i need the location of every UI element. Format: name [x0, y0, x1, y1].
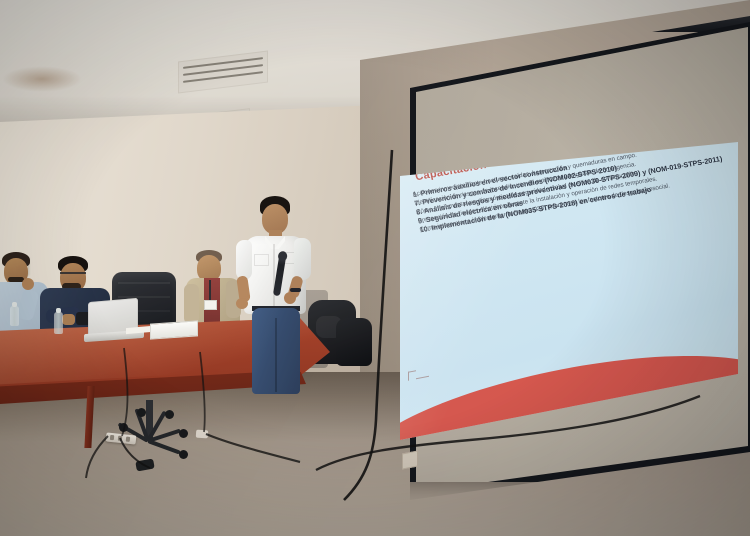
ceiling-stain [2, 66, 82, 92]
water-bottle[interactable] [10, 306, 19, 326]
presenter [232, 196, 324, 396]
air-vent [178, 50, 268, 93]
lanyard [209, 280, 211, 302]
shirt-placket [273, 244, 275, 308]
name-card [150, 320, 198, 339]
chair-caster [137, 408, 146, 417]
presenter-sleeve-right [294, 238, 311, 280]
chair-caster [179, 429, 188, 438]
cable-connector [196, 430, 209, 439]
photo-scene: Capacitación 1. Primeros auxilios en el … [0, 0, 750, 536]
backpack [336, 318, 372, 366]
presenter-sleeve-left [236, 240, 252, 280]
id-badge [204, 300, 217, 310]
shirt-pocket [254, 254, 269, 266]
presenter-hand-right [284, 292, 296, 304]
chair-caster [119, 423, 128, 432]
water-bottle[interactable] [54, 312, 63, 334]
presenter-jeans [252, 308, 300, 394]
slide-logo [408, 371, 430, 380]
chair-caster [165, 410, 174, 419]
screen-wall-mount [402, 450, 418, 469]
presenter-hand-left [236, 298, 248, 309]
